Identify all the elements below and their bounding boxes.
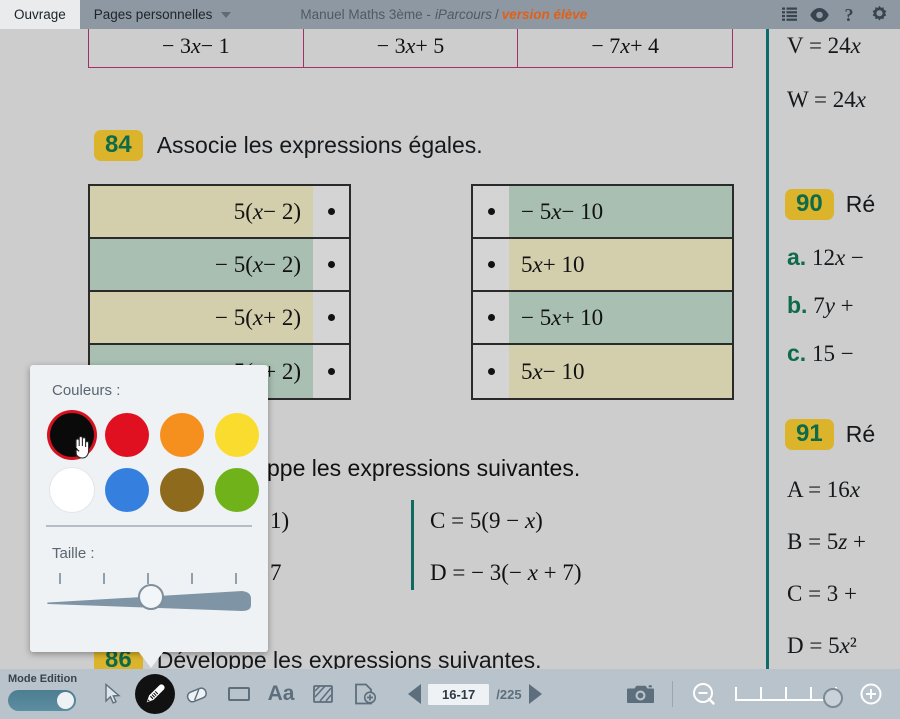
list-icon[interactable]: [774, 0, 804, 29]
exercise-91-statement: Ré: [846, 421, 875, 448]
table-row[interactable]: − 5(x + 2): [90, 292, 349, 345]
next-page-button[interactable]: [529, 684, 542, 704]
column-separator: [411, 500, 414, 590]
eraser-tool[interactable]: [176, 669, 218, 719]
swatch-fill: [160, 468, 204, 512]
mode-edition-control[interactable]: Mode Edition: [0, 669, 92, 719]
svg-text:?: ?: [845, 6, 854, 24]
item-label: b.: [787, 292, 807, 318]
table-cell: − 3x + 5: [304, 25, 519, 67]
zoom-slider[interactable]: [735, 680, 840, 708]
colors-label: Couleurs :: [30, 365, 268, 399]
current-page-input[interactable]: 16-17: [428, 684, 489, 705]
table-row[interactable]: 5x − 10: [473, 345, 732, 398]
match-expression: − 5(x − 2): [90, 239, 313, 290]
connector-dot[interactable]: [473, 239, 509, 290]
hand-cursor-icon: [72, 435, 92, 459]
connector-dot[interactable]: [313, 292, 349, 343]
exercise-85-left-item: 7: [270, 560, 282, 586]
toolbar-separator: [672, 681, 673, 707]
eye-icon[interactable]: [804, 0, 834, 29]
rectangle-tool[interactable]: [218, 669, 260, 719]
exercise-85-statement: ppe les expressions suivantes.: [267, 455, 580, 482]
table-cell: − 3x − 1: [89, 25, 304, 67]
exercise-91-item: A = 16x: [787, 477, 860, 503]
item-expression: 15 −: [812, 341, 854, 366]
zoom-in-icon[interactable]: [850, 669, 892, 719]
color-swatch-white[interactable]: [44, 466, 99, 513]
swatch-fill: [105, 468, 149, 512]
item-label: a.: [787, 244, 806, 270]
exercise-91-number: 91: [785, 419, 834, 450]
document-title: Manuel Maths 3ème - iParcours / version …: [300, 0, 587, 29]
zoom-tick: [735, 687, 737, 699]
zoom-tick: [810, 687, 812, 699]
top-toolbar: Ouvrage Pages personnelles Manuel Maths …: [0, 0, 900, 29]
connector-dot[interactable]: [313, 239, 349, 290]
size-tick-marks: [54, 573, 244, 584]
match-table-right: − 5x − 10 5x + 10 − 5x + 10 5x − 10: [471, 184, 734, 400]
color-swatch-orange[interactable]: [154, 411, 209, 458]
chevron-down-icon[interactable]: [221, 12, 231, 18]
size-slider-handle[interactable]: [138, 584, 164, 610]
toggle-knob: [57, 692, 74, 709]
size-label: Taille :: [52, 545, 95, 562]
mode-edition-toggle[interactable]: [8, 690, 76, 711]
exercise-90-item: a. 12x −: [787, 244, 864, 271]
zoom-tick: [785, 687, 787, 699]
exercise-90-heading: 90 Ré: [785, 189, 875, 220]
exercise-91-item: B = 5z +: [787, 529, 866, 555]
color-swatch-green[interactable]: [209, 466, 264, 513]
exercise-85-right-item: C = 5(9 − x): [430, 508, 543, 534]
match-expression: 5x + 10: [509, 239, 732, 290]
item-label: c.: [787, 340, 806, 366]
popup-pointer: [138, 651, 164, 668]
mode-edition-label: Mode Edition: [8, 673, 77, 685]
tab-pages-personnelles[interactable]: Pages personnelles: [80, 0, 246, 29]
settings-icon[interactable]: [864, 0, 894, 29]
exercise-91-item: D = 5x²: [787, 633, 857, 659]
table-row[interactable]: − 5x + 10: [473, 292, 732, 345]
color-swatch-brown[interactable]: [154, 466, 209, 513]
top-icon-group: ?: [774, 0, 900, 29]
document-title-version: version élève: [502, 7, 588, 22]
connector-dot[interactable]: [473, 345, 509, 398]
exercise-85-left-item: 1): [270, 508, 289, 534]
exercise-91-heading: 91 Ré: [785, 419, 875, 450]
popup-divider: [46, 525, 252, 527]
match-expression: − 5x + 10: [509, 292, 732, 343]
swatch-fill: [105, 413, 149, 457]
color-swatch-red[interactable]: [99, 411, 154, 458]
exercise-84-number: 84: [94, 130, 143, 161]
table-row[interactable]: − 5(x − 2): [90, 239, 349, 292]
exercise-85-right-item: D = − 3(− x + 7): [430, 560, 582, 586]
swatch-fill: [160, 413, 204, 457]
color-swatch-blue[interactable]: [99, 466, 154, 513]
add-page-tool[interactable]: [344, 669, 386, 719]
connector-dot[interactable]: [313, 186, 349, 237]
bottom-toolbar: Mode Edition: [0, 669, 900, 719]
zoom-tick: [760, 687, 762, 699]
match-expression: 5x − 10: [509, 345, 732, 398]
right-line: V = 24x: [787, 33, 861, 59]
connector-dot[interactable]: [313, 345, 349, 398]
text-tool-label: Aa: [268, 682, 295, 706]
top-expression-table: − 3x − 1 − 3x + 5 − 7x + 4: [88, 24, 733, 68]
table-row[interactable]: 5(x − 2): [90, 186, 349, 239]
exercise-90-item: c. 15 −: [787, 340, 854, 367]
swatch-fill: [215, 468, 259, 512]
exercise-90-statement: Ré: [846, 191, 875, 218]
tab-ouvrage[interactable]: Ouvrage: [0, 0, 80, 29]
match-expression: − 5x − 10: [509, 186, 732, 237]
right-line: W = 24x: [787, 87, 866, 113]
exercise-91-item: C = 3 +: [787, 581, 857, 607]
match-expression: − 5(x + 2): [90, 292, 313, 343]
connector-dot[interactable]: [473, 186, 509, 237]
item-expression: 12x −: [812, 245, 864, 270]
item-expression: 7y +: [813, 293, 853, 318]
table-row[interactable]: 5x + 10: [473, 239, 732, 292]
color-size-popup: Couleurs :: [30, 365, 268, 652]
document-title-brand: iParcours: [435, 7, 492, 22]
color-swatch-grid: [30, 399, 268, 513]
help-icon[interactable]: ?: [834, 0, 864, 29]
page-divider: [766, 29, 769, 669]
connector-dot[interactable]: [473, 292, 509, 343]
highlight-tool[interactable]: [302, 669, 344, 719]
swatch-fill: [215, 413, 259, 457]
text-tool[interactable]: Aa: [260, 669, 302, 719]
swatch-fill: [50, 468, 94, 512]
color-swatch-black[interactable]: [44, 411, 99, 458]
tab-pages-personnelles-label: Pages personnelles: [94, 7, 213, 22]
total-pages-label: /225: [496, 687, 521, 702]
tab-ouvrage-label: Ouvrage: [14, 7, 66, 22]
match-expression: 5(x − 2): [90, 186, 313, 237]
right-page-panel: V = 24x W = 24x 90 Ré a. 12x − b. 7y + c…: [775, 29, 900, 669]
color-swatch-yellow[interactable]: [209, 411, 264, 458]
previous-page-button[interactable]: [408, 684, 421, 704]
exercise-90-number: 90: [785, 189, 834, 220]
application-window: Ouvrage Pages personnelles Manuel Maths …: [0, 0, 900, 719]
document-title-main: Manuel Maths 3ème -: [300, 7, 431, 22]
page-navigation: 16-17 /225: [408, 684, 542, 705]
table-cell: − 7x + 4: [518, 25, 732, 67]
exercise-84-heading: 84 Associe les expressions égales.: [94, 130, 483, 161]
exercise-90-item: b. 7y +: [787, 292, 854, 319]
camera-icon[interactable]: [620, 669, 662, 719]
zoom-slider-handle[interactable]: [823, 688, 843, 708]
pencil-tool[interactable]: [135, 674, 175, 714]
document-title-separator: /: [495, 7, 499, 22]
zoom-controls: [620, 669, 900, 719]
zoom-out-icon[interactable]: [683, 669, 725, 719]
exercise-84-statement: Associe les expressions égales.: [157, 132, 483, 159]
table-row[interactable]: − 5x − 10: [473, 186, 732, 239]
cursor-tool[interactable]: [92, 669, 134, 719]
